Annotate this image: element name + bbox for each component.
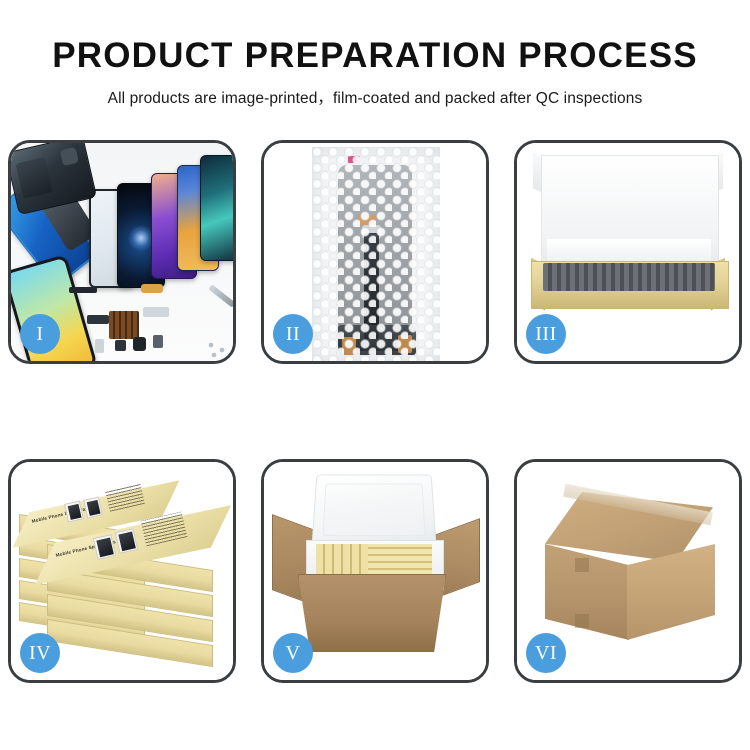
small-component-2	[153, 335, 163, 348]
bubble-wrap-bag	[312, 147, 440, 361]
earpiece-mesh-part	[69, 287, 97, 293]
screws-icon	[207, 341, 233, 359]
carton-front-wall	[298, 574, 446, 652]
step-badge-4: IV	[20, 633, 60, 673]
carton-right-face	[627, 544, 715, 640]
header: PRODUCT PREPARATION PROCESS All products…	[0, 0, 750, 108]
flex-cable-part-2	[143, 307, 169, 317]
small-component-1	[115, 340, 126, 351]
bubble-texture	[312, 147, 440, 361]
flex-cable-part-3	[87, 315, 109, 324]
step-badge-1: I	[20, 314, 60, 354]
teal-screen-phone	[200, 155, 233, 261]
page-title: PRODUCT PREPARATION PROCESS	[0, 38, 750, 75]
step-badge-6: VI	[526, 633, 566, 673]
step-badge-2: II	[273, 314, 313, 354]
step-badge-5: V	[273, 633, 313, 673]
process-step-panel-5: V	[261, 459, 489, 683]
page-subtitle: All products are image-printed，film-coat…	[0, 86, 750, 108]
process-step-panel-4: Mobile Phone Spare Parts Mobile Phone Sp…	[8, 459, 236, 683]
chip-array-part	[109, 311, 139, 339]
process-step-panel-6: VI	[514, 459, 742, 683]
tweezers-tool-icon	[208, 284, 233, 307]
step-badge-3: III	[526, 314, 566, 354]
product-preparation-infographic: PRODUCT PREPARATION PROCESS All products…	[0, 0, 750, 750]
phone-back-housing	[11, 143, 97, 215]
flex-cable-part-1	[141, 284, 163, 293]
foam-lid	[311, 475, 436, 547]
sim-tray-part	[95, 339, 104, 353]
process-step-panel-1: I	[8, 140, 236, 364]
carton-seam-top	[575, 558, 589, 572]
bubble-wrapped-contents	[543, 263, 715, 291]
process-step-panel-2: II	[261, 140, 489, 364]
process-step-panel-3: III	[514, 140, 742, 364]
carton-seam-bottom	[575, 614, 589, 628]
process-step-grid: I II	[8, 140, 742, 696]
speaker-part	[133, 337, 146, 351]
